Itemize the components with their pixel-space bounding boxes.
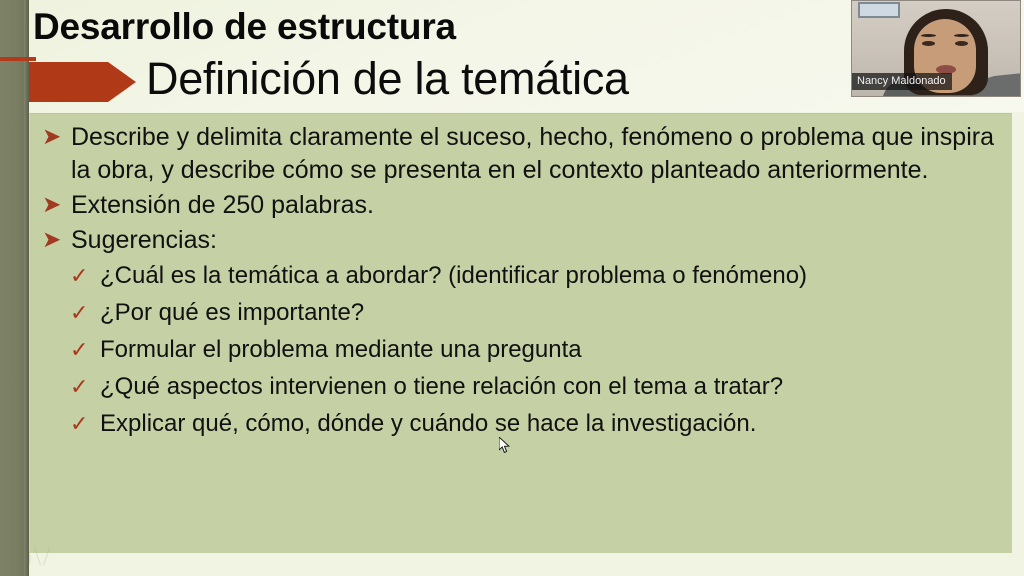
check-bullet-icon: ✓ xyxy=(70,370,100,403)
arrow-bullet-icon: ➤ xyxy=(38,189,71,219)
wall-picture-frame xyxy=(858,2,900,18)
list-item: ➤ Describe y delimita claramente el suce… xyxy=(38,121,998,187)
arrow-bullet-icon: ➤ xyxy=(38,224,71,254)
check-bullet-icon: ✓ xyxy=(70,333,100,366)
slide-content-panel: ➤ Describe y delimita claramente el suce… xyxy=(29,113,1012,553)
header-accent-rule xyxy=(0,57,36,61)
slide-title: Desarrollo de estructura xyxy=(33,6,456,48)
speaker-eyebrow-left xyxy=(921,34,936,37)
list-item: ✓ ¿Qué aspectos intervienen o tiene rela… xyxy=(38,370,998,403)
list-item: ✓ ¿Por qué es importante? xyxy=(38,296,998,329)
list-item: ➤ Extensión de 250 palabras. xyxy=(38,189,998,222)
check-bullet-icon: ✓ xyxy=(70,407,100,440)
speaker-eye-left xyxy=(922,41,935,46)
slide-subtitle: Definición de la temática xyxy=(146,53,629,105)
suggestion-text: Explicar qué, cómo, dónde y cuándo se ha… xyxy=(100,407,998,440)
suggestion-text: Formular el problema mediante una pregun… xyxy=(100,333,998,366)
check-bullet-icon: ✓ xyxy=(70,259,100,292)
participant-name-label: Nancy Maldonado xyxy=(852,73,952,90)
bullet-text: Extensión de 250 palabras. xyxy=(71,189,998,222)
suggestion-text: ¿Qué aspectos intervienen o tiene relaci… xyxy=(100,370,998,403)
list-item: ✓ ¿Cuál es la temática a abordar? (ident… xyxy=(38,259,998,292)
background-watermark: ( )\/ xyxy=(4,540,234,574)
list-item: ✓ Formular el problema mediante una preg… xyxy=(38,333,998,366)
presentation-slide: ( )\/ Desarrollo de estructura Definició… xyxy=(0,0,1024,576)
left-decorative-strip xyxy=(0,0,29,576)
list-item: ✓ Explicar qué, cómo, dónde y cuándo se … xyxy=(38,407,998,440)
check-bullet-icon: ✓ xyxy=(70,296,100,329)
webcam-video-tile[interactable]: Nancy Maldonado xyxy=(851,0,1021,97)
suggestion-text: ¿Cuál es la temática a abordar? (identif… xyxy=(100,259,998,292)
speaker-eyebrow-right xyxy=(954,34,969,37)
bullet-text: Sugerencias: xyxy=(71,224,998,257)
arrow-bullet-icon: ➤ xyxy=(38,121,71,151)
left-strip-highlight xyxy=(24,0,29,576)
bullet-text: Describe y delimita claramente el suceso… xyxy=(71,121,998,187)
suggestion-text: ¿Por qué es importante? xyxy=(100,296,998,329)
mouse-cursor-icon xyxy=(499,437,511,454)
list-item: ➤ Sugerencias: xyxy=(38,224,998,257)
speaker-eye-right xyxy=(955,41,968,46)
